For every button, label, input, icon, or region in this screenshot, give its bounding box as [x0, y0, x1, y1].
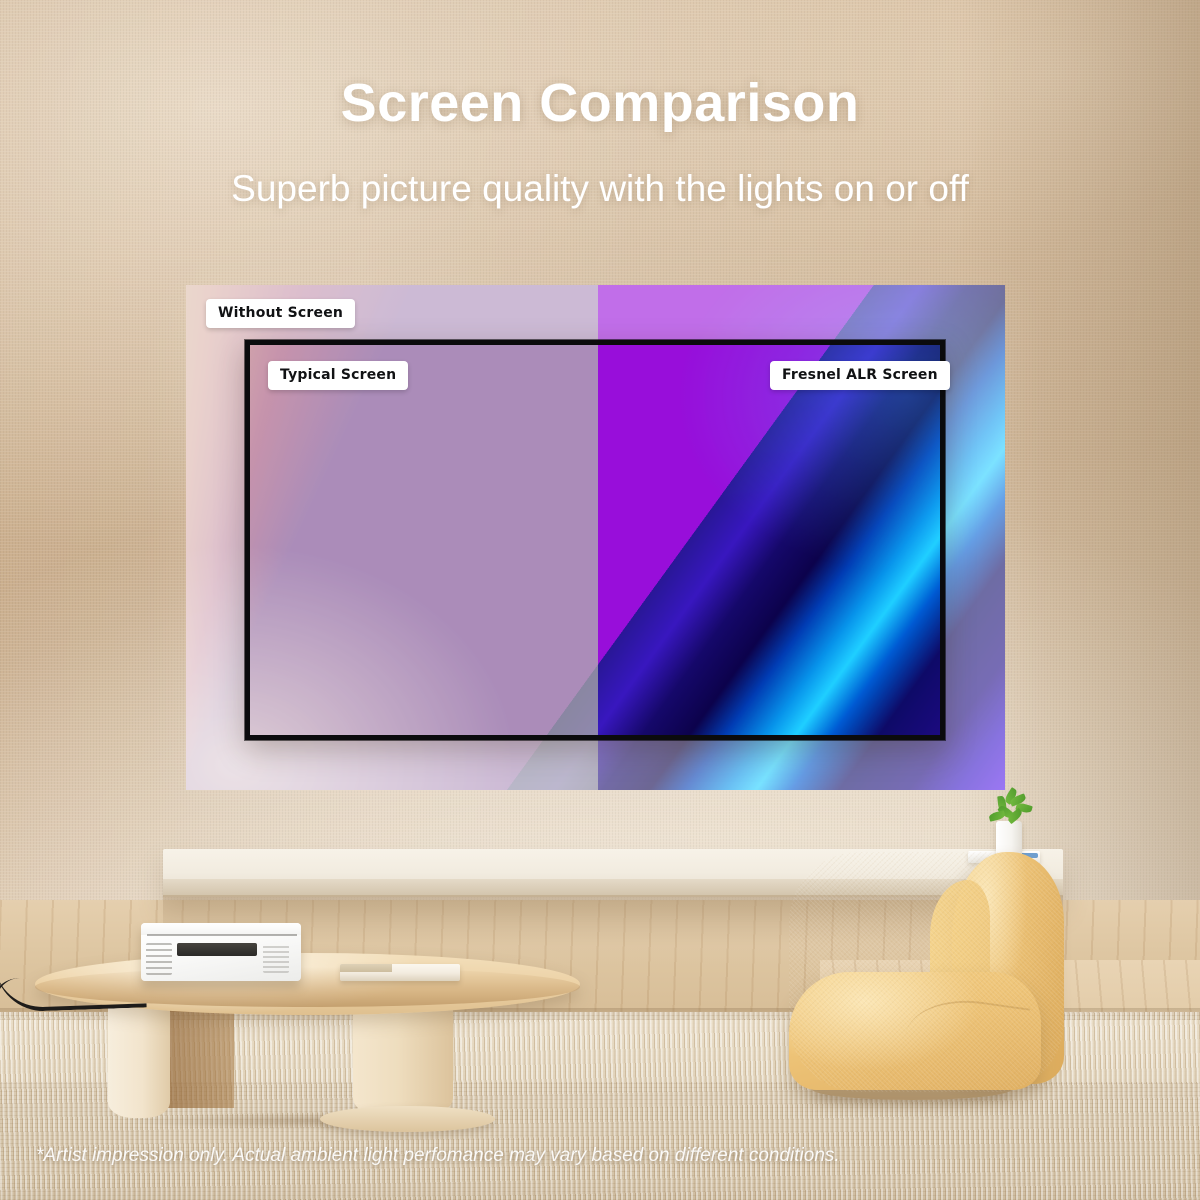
projector-lens-slot — [177, 943, 257, 956]
footer-disclaimer: *Artist impression only. Actual ambient … — [36, 1145, 1166, 1167]
projector-seam-line — [147, 934, 297, 936]
table-leg-right — [353, 1000, 453, 1120]
projector-vent-right — [263, 945, 289, 973]
table-leg-left-shade — [168, 1000, 234, 1108]
badge-typical-screen: Typical Screen — [268, 361, 408, 390]
power-cable-tail — [0, 978, 20, 1018]
badge-fresnel-alr-screen: Fresnel ALR Screen — [770, 361, 950, 390]
page-title: Screen Comparison — [0, 72, 1200, 134]
ultra-short-throw-projector — [141, 923, 301, 981]
projector-vent-left — [146, 943, 172, 975]
badge-without-screen: Without Screen — [206, 299, 355, 328]
leaf-icon — [988, 810, 1005, 822]
potted-plant-icon — [985, 790, 1035, 826]
table-leg-left — [108, 1000, 170, 1118]
table-leg-right-base — [320, 1106, 495, 1132]
floating-console-shelf — [163, 849, 1063, 897]
power-cable — [0, 959, 147, 1012]
book-spine — [340, 964, 392, 972]
page-subtitle: Superb picture quality with the lights o… — [0, 168, 1200, 210]
